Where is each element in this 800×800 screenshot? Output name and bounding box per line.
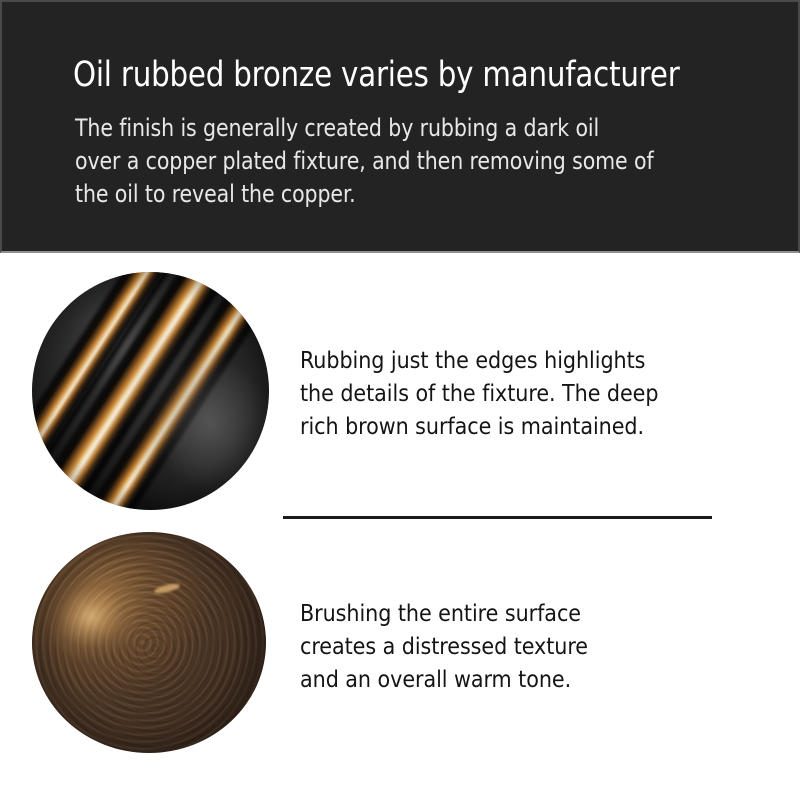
header-subhead: The finish is generally created by rubbi… xyxy=(75,112,693,211)
header-subhead-line-3: the oil to reveal the copper. xyxy=(75,178,693,211)
caption-brushed-line-2: creates a distressed texture xyxy=(300,631,720,664)
header-subhead-line-1: The finish is generally created by rubbi… xyxy=(75,112,693,145)
sphere-vignette xyxy=(32,532,266,753)
header-band: Oil rubbed bronze varies by manufacturer… xyxy=(0,0,800,253)
brush-texture-coarse xyxy=(32,532,266,753)
page-title: Oil rubbed bronze varies by manufacturer xyxy=(73,54,715,96)
caption-polished-line-2: the details of the fixture. The deep xyxy=(300,378,720,411)
header-subhead-line-2: over a copper plated fixture, and then r… xyxy=(75,145,693,178)
caption-polished-line-1: Rubbing just the edges highlights xyxy=(300,345,720,378)
caption-polished: Rubbing just the edges highlights the de… xyxy=(300,345,720,444)
sphere-highlight xyxy=(32,542,175,687)
body-area: Rubbing just the edges highlights the de… xyxy=(0,253,800,800)
caption-brushed-line-1: Brushing the entire surface xyxy=(300,598,720,631)
caption-brushed: Brushing the entire surface creates a di… xyxy=(300,598,720,697)
caption-polished-line-3: rich brown surface is maintained. xyxy=(300,411,720,444)
sphere-specular-speck xyxy=(153,582,180,595)
infographic-root: Oil rubbed bronze varies by manufacturer… xyxy=(0,0,800,800)
caption-brushed-line-3: and an overall warm tone. xyxy=(300,664,720,697)
brush-texture-fine xyxy=(32,532,266,753)
section-divider xyxy=(283,516,712,519)
swatch-polished-black-copper-edge-sphere xyxy=(32,272,269,510)
swatch-brushed-distressed-bronze-sphere xyxy=(32,532,266,753)
